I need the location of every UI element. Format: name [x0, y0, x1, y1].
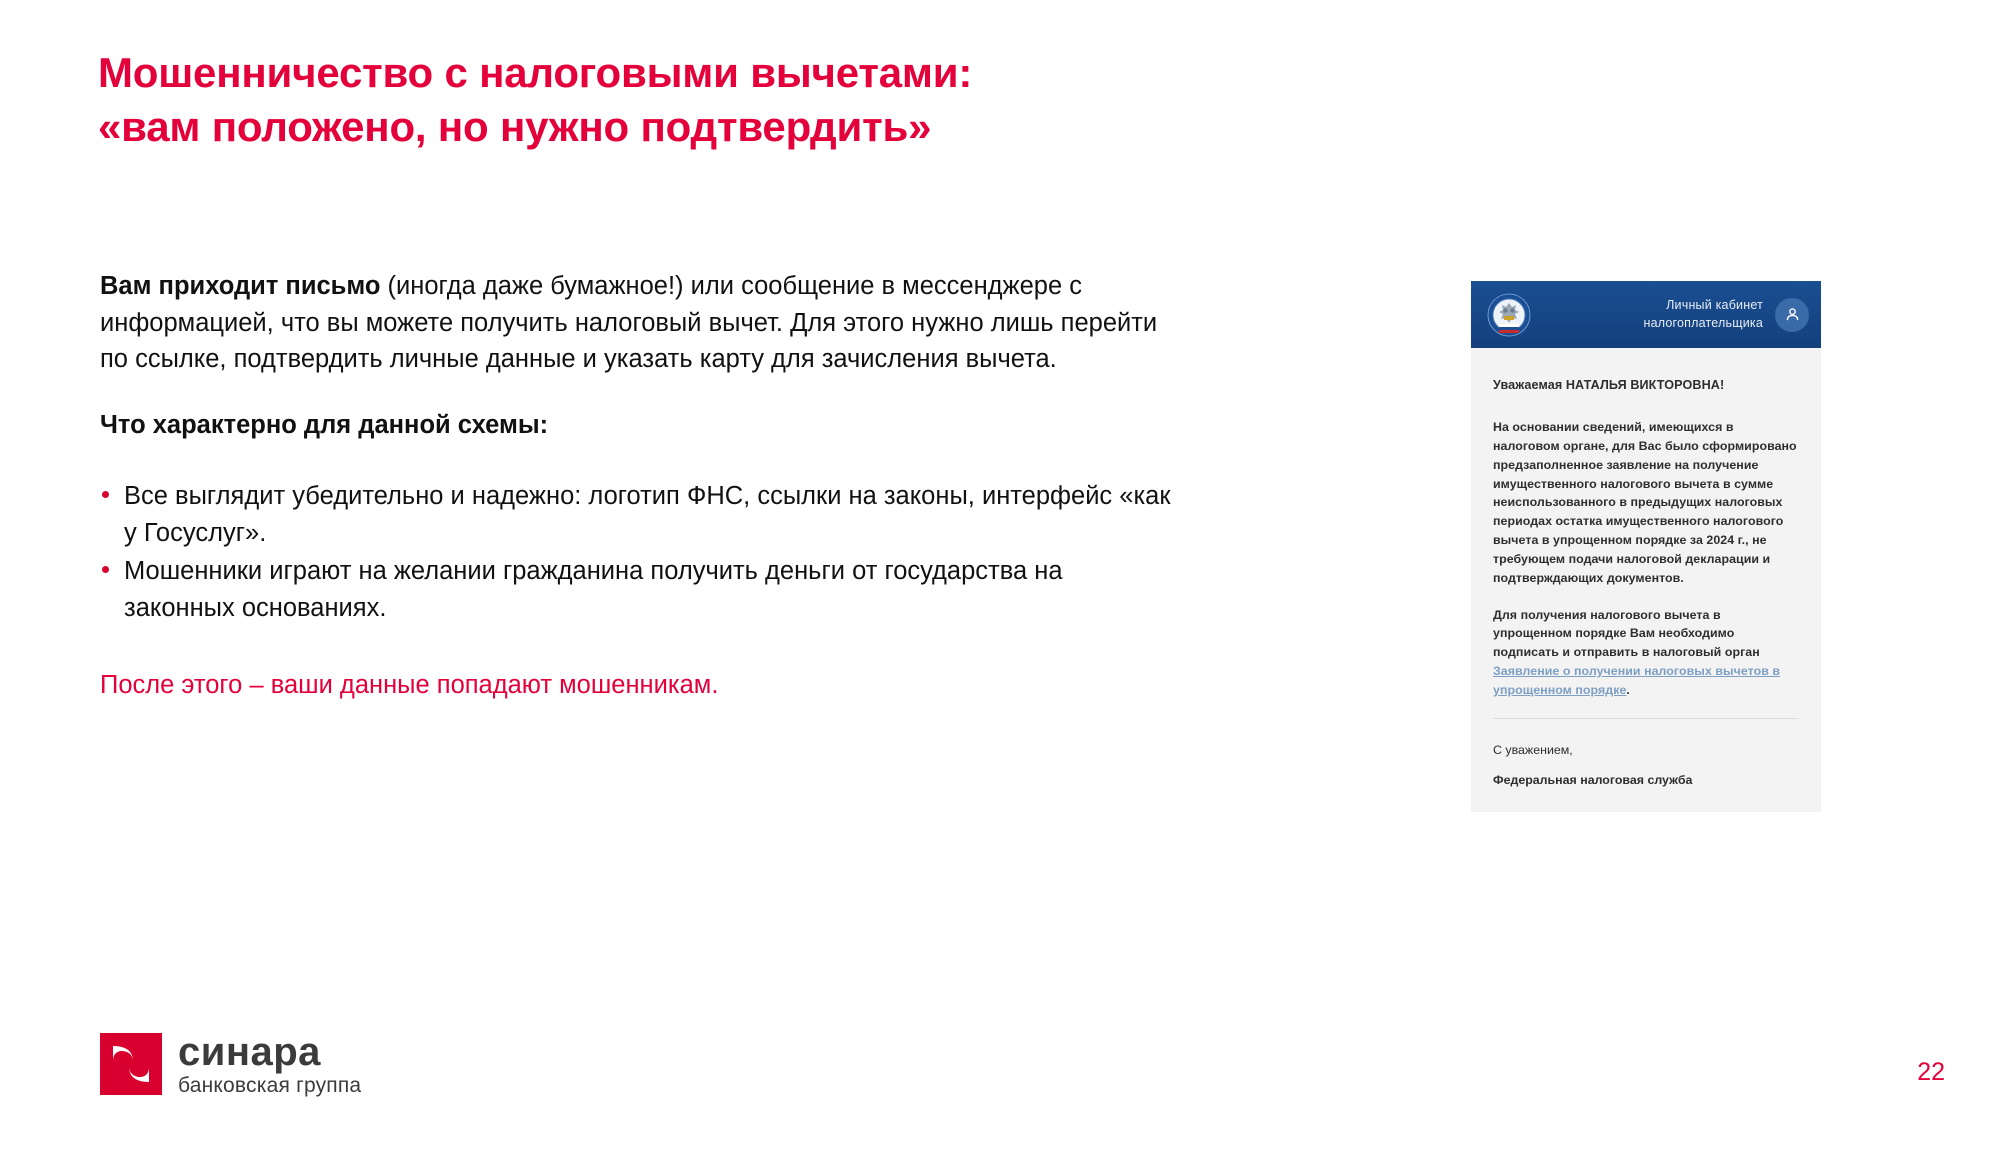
- application-link[interactable]: Заявление о получении налоговых вычетов …: [1493, 664, 1780, 697]
- lk-header-title: Личный кабинет налогоплательщика: [1533, 297, 1775, 332]
- sinara-logo: синара банковская группа: [100, 1032, 361, 1096]
- email-paragraph-2-text: Для получения налогового вычета в упроще…: [1493, 608, 1760, 660]
- email-paragraph-2: Для получения налогового вычета в упроще…: [1493, 606, 1799, 700]
- email-body: Уважаемая НАТАЛЬЯ ВИКТОРОВНА! На основан…: [1471, 348, 1821, 790]
- email-paragraph-1: На основании сведений, имеющихся в налог…: [1493, 418, 1799, 588]
- user-icon: [1783, 305, 1802, 324]
- email-paragraph-2-tail: .: [1626, 683, 1630, 697]
- lk-header-title-line-2: налогоплательщика: [1533, 315, 1763, 332]
- section-subheading: Что характерно для данной схемы:: [100, 408, 1180, 444]
- content-column: Вам приходит письмо (иногда даже бумажно…: [100, 268, 1180, 729]
- closing-warning: После этого – ваши данные попадают мошен…: [100, 667, 1180, 704]
- email-signoff: С уважением,: [1493, 741, 1799, 760]
- email-divider: [1493, 718, 1799, 719]
- sinara-logo-mark-icon: [100, 1033, 162, 1095]
- lk-header-title-line-1: Личный кабинет: [1533, 297, 1763, 314]
- sinara-logo-name: синара: [178, 1032, 361, 1072]
- bullet-dot-icon: [102, 566, 109, 573]
- list-item: Мошенники играют на желании гражданина п…: [100, 553, 1180, 626]
- lk-header: Личный кабинет налогоплательщика: [1471, 281, 1821, 348]
- page-number: 22: [1917, 1058, 1945, 1087]
- intro-lead: Вам приходит письмо: [100, 272, 380, 300]
- sinara-logo-tagline: банковская группа: [178, 1075, 361, 1096]
- user-account-button[interactable]: [1775, 298, 1809, 332]
- sinara-logo-text: синара банковская группа: [178, 1032, 361, 1096]
- email-greeting: Уважаемая НАТАЛЬЯ ВИКТОРОВНА!: [1493, 378, 1799, 392]
- page-title: Мошенничество с налоговыми вычетами: «ва…: [98, 46, 1338, 154]
- email-signature: Федеральная налоговая служба: [1493, 771, 1799, 790]
- list-item: Все выглядит убедительно и надежно: лого…: [100, 478, 1180, 551]
- intro-paragraph: Вам приходит письмо (иногда даже бумажно…: [100, 268, 1180, 378]
- list-item-label: Все выглядит убедительно и надежно: лого…: [124, 482, 1171, 547]
- characteristics-list: Все выглядит убедительно и надежно: лого…: [100, 478, 1180, 627]
- list-item-label: Мошенники играют на желании гражданина п…: [124, 557, 1063, 622]
- bullet-dot-icon: [102, 491, 109, 498]
- page-title-line-1: Мошенничество с налоговыми вычетами:: [98, 46, 1338, 100]
- phishing-email-screenshot: Личный кабинет налогоплательщика Уважаем…: [1471, 281, 1821, 812]
- fns-emblem-icon: [1485, 291, 1533, 339]
- page-title-line-2: «вам положено, но нужно подтвердить»: [98, 100, 1338, 154]
